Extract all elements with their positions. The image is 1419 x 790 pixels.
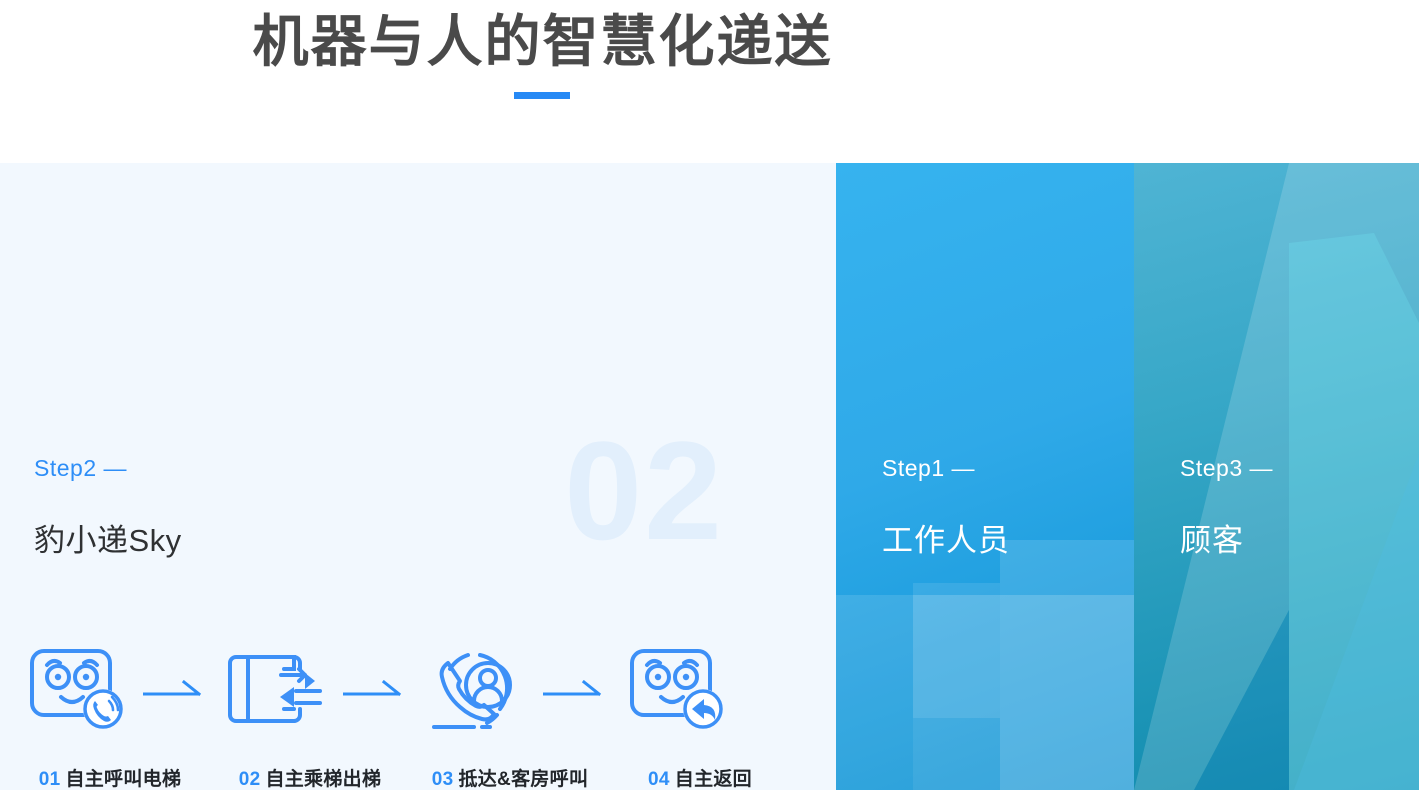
right-panels: Step1 — 工作人员 Step3 — 顾客 [836, 163, 1419, 790]
delivery-flow-diagram: 01自主呼叫电梯 02自主乘梯出梯 03抵达&客房呼叫 04自主返回 [10, 633, 790, 790]
flow-icons-row [10, 633, 790, 751]
flow-label-04-text: 自主返回 [675, 769, 752, 790]
flow-label-01-text: 自主呼叫电梯 [65, 769, 181, 790]
phone-person-icon [418, 635, 528, 750]
flow-step-03[interactable] [410, 633, 535, 751]
flow-label-03-number: 03 [432, 769, 454, 790]
robot-face-return-icon [618, 635, 728, 750]
step3-eyebrow-dash: — [1250, 455, 1273, 481]
step2-eyebrow-label: Step2 [34, 455, 97, 481]
flow-arrow-2 [335, 633, 410, 751]
step1-heading: 工作人员 [882, 515, 1010, 560]
flow-step-01[interactable] [10, 633, 135, 751]
flow-label-02-number: 02 [239, 769, 261, 790]
step1-eyebrow: Step1 — [882, 455, 975, 482]
flow-arrow-1 [135, 633, 210, 751]
flow-label-02-text: 自主乘梯出梯 [265, 769, 381, 790]
flow-label-03-text: 抵达&客房呼叫 [458, 769, 588, 790]
step2-panel: 02 Step2 — 豹小递Sky [0, 163, 836, 790]
flow-label-01-number: 01 [39, 769, 61, 790]
step1-eyebrow-label: Step1 [882, 455, 945, 481]
flow-step-04[interactable] [610, 633, 735, 751]
flow-label-04-number: 04 [648, 769, 670, 790]
step3-eyebrow: Step3 — [1180, 455, 1273, 482]
title-accent-rule [514, 92, 570, 99]
step1-eyebrow-dash: — [952, 455, 975, 481]
flow-label-02: 02自主乘梯出梯 [210, 764, 410, 790]
flow-labels-row: 01自主呼叫电梯 02自主乘梯出梯 03抵达&客房呼叫 04自主返回 [10, 761, 790, 790]
step2-eyebrow-dash: — [104, 455, 127, 481]
step2-heading: 豹小递Sky [34, 515, 182, 560]
step2-eyebrow: Step2 — [34, 455, 127, 482]
step3-heading: 顾客 [1180, 515, 1244, 560]
flow-label-03: 03抵达&客房呼叫 [410, 764, 610, 790]
slide-header: 机器与人的智慧化递送 [0, 0, 1419, 163]
step1-panel: Step1 — 工作人员 [836, 163, 1134, 790]
decor-block-4 [913, 595, 1134, 790]
flow-arrow-3 [535, 633, 610, 751]
flow-label-04: 04自主返回 [610, 764, 790, 790]
arrow-right-icon [542, 680, 604, 705]
step3-eyebrow-label: Step3 [1180, 455, 1243, 481]
robot-face-call-icon [18, 635, 128, 750]
flow-label-01: 01自主呼叫电梯 [10, 764, 210, 790]
elevator-inout-icon [218, 635, 328, 750]
page-title: 机器与人的智慧化递送 [0, 6, 1085, 78]
arrow-right-icon [142, 680, 204, 705]
step3-panel: Step3 — 顾客 [1134, 163, 1419, 790]
arrow-right-icon [342, 680, 404, 705]
slide-root: 机器与人的智慧化递送 02 Step2 — 豹小递Sky [0, 0, 1419, 790]
step2-watermark-number: 02 [564, 421, 724, 561]
flow-step-02[interactable] [210, 633, 335, 751]
